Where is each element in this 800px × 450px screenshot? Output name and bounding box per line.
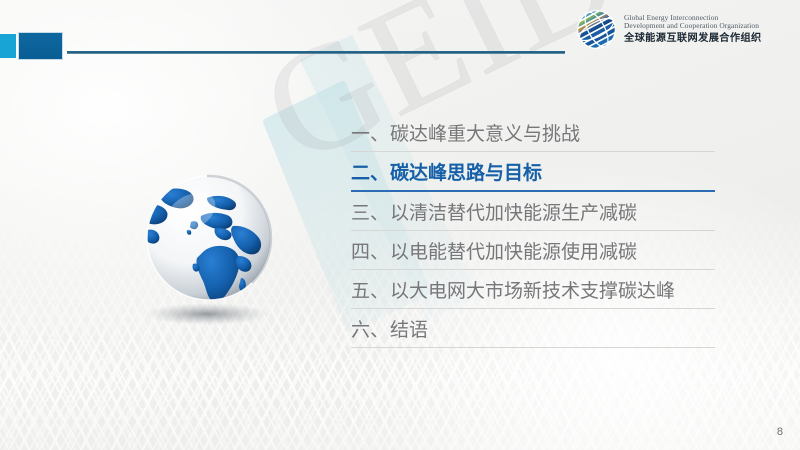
agenda-item-5[interactable]: 五、 以大电网大市场新技术支撑碳达峰 (351, 270, 715, 309)
globe-grid-logo-icon (576, 9, 617, 50)
agenda-list: 一、 碳达峰重大意义与挑战 二、 碳达峰思路与目标 三、 以清洁替代加快能源生产… (351, 113, 715, 348)
agenda-item-3[interactable]: 三、 以清洁替代加快能源生产减碳 (351, 192, 715, 231)
logo-line-en-2: Development and Cooperation Organization (624, 22, 762, 30)
agenda-item-4-number: 四、 (351, 237, 389, 264)
agenda-item-6-number: 六、 (351, 315, 389, 342)
header-accent-square-blue (19, 33, 62, 59)
earth-globe-3d-icon (133, 168, 293, 343)
organization-logo-text: Global Energy Interconnection Developmen… (624, 14, 762, 44)
header-accent-square-cyan (0, 34, 16, 58)
agenda-item-2-label: 碳达峰思路与目标 (390, 158, 542, 185)
globe-shadow (145, 303, 269, 325)
agenda-item-1-number: 一、 (351, 119, 389, 146)
agenda-item-5-label: 以大电网大市场新技术支撑碳达峰 (390, 276, 675, 303)
agenda-item-4-label: 以电能替代加快能源使用减碳 (390, 237, 637, 264)
agenda-item-2[interactable]: 二、 碳达峰思路与目标 (351, 152, 715, 192)
agenda-item-1-label: 碳达峰重大意义与挑战 (390, 119, 580, 146)
logo-line-cn: 全球能源互联网发展合作组织 (624, 33, 762, 44)
agenda-item-5-number: 五、 (351, 276, 389, 303)
agenda-item-6-label: 结语 (390, 315, 428, 342)
earth-globe-svg (133, 168, 293, 343)
page-number: 8 (777, 426, 783, 438)
agenda-item-3-label: 以清洁替代加快能源生产减碳 (390, 198, 637, 225)
header-divider-rule (67, 51, 565, 54)
presentation-slide: GEIDCO (0, 0, 800, 450)
organization-logo: Global Energy Interconnection Developmen… (576, 6, 796, 52)
agenda-item-1[interactable]: 一、 碳达峰重大意义与挑战 (351, 113, 715, 152)
agenda-item-4[interactable]: 四、 以电能替代加快能源使用减碳 (351, 231, 715, 270)
agenda-item-6[interactable]: 六、 结语 (351, 309, 715, 348)
agenda-item-2-number: 二、 (351, 158, 389, 185)
agenda-item-3-number: 三、 (351, 198, 389, 225)
